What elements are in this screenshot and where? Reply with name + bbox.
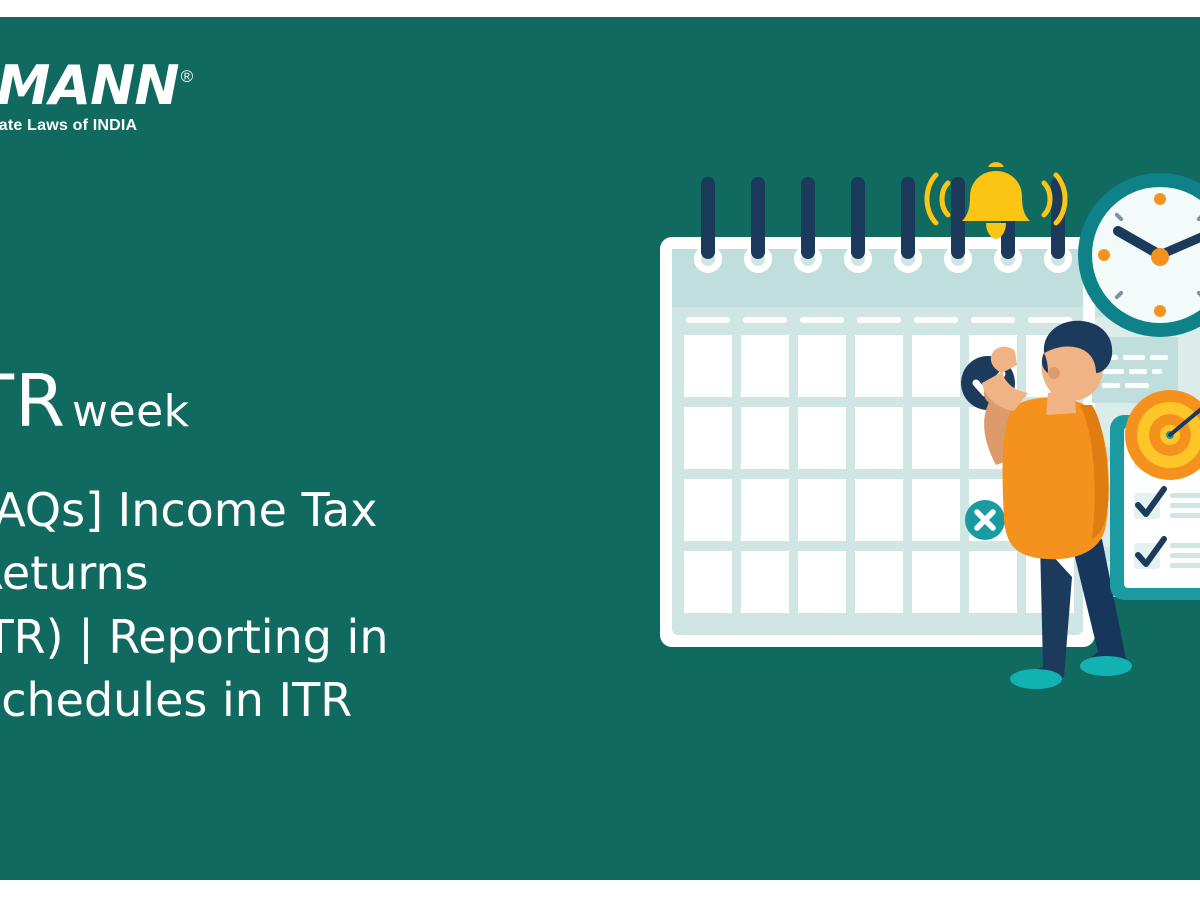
bottom-white-bar bbox=[0, 880, 1200, 900]
page-title-line-3: ITR) | Reporting in bbox=[0, 606, 612, 669]
page-title-line-1: FAQs] Income Tax bbox=[0, 479, 612, 542]
cross-badge bbox=[965, 500, 1005, 540]
brand-wordmark-text: XMANN bbox=[0, 59, 179, 113]
page-title-line-4: Schedules in ITR bbox=[0, 669, 612, 732]
series-mark: TR bbox=[0, 365, 66, 437]
banner-stage: XMANN® orporate Laws of INDIA TR week FA… bbox=[0, 17, 1200, 880]
alarm-bell-icon bbox=[927, 162, 1065, 239]
calendar-deadline-illustration bbox=[640, 147, 1200, 707]
series-week-label: week bbox=[72, 390, 190, 434]
brand-wordmark: XMANN® bbox=[0, 59, 256, 113]
page-title-line-2: Returns bbox=[0, 542, 612, 605]
banner-root: XMANN® orporate Laws of INDIA TR week FA… bbox=[0, 0, 1200, 900]
top-white-bar bbox=[0, 0, 1200, 17]
calendar-weekday-labels bbox=[686, 317, 1072, 323]
brand-logo: XMANN® orporate Laws of INDIA bbox=[0, 59, 256, 135]
series-lockup: TR week bbox=[0, 365, 190, 437]
registered-trademark-icon: ® bbox=[181, 68, 193, 85]
page-title: FAQs] Income Tax Returns ITR) | Reportin… bbox=[0, 479, 612, 733]
brand-tagline: orporate Laws of INDIA bbox=[0, 117, 256, 135]
